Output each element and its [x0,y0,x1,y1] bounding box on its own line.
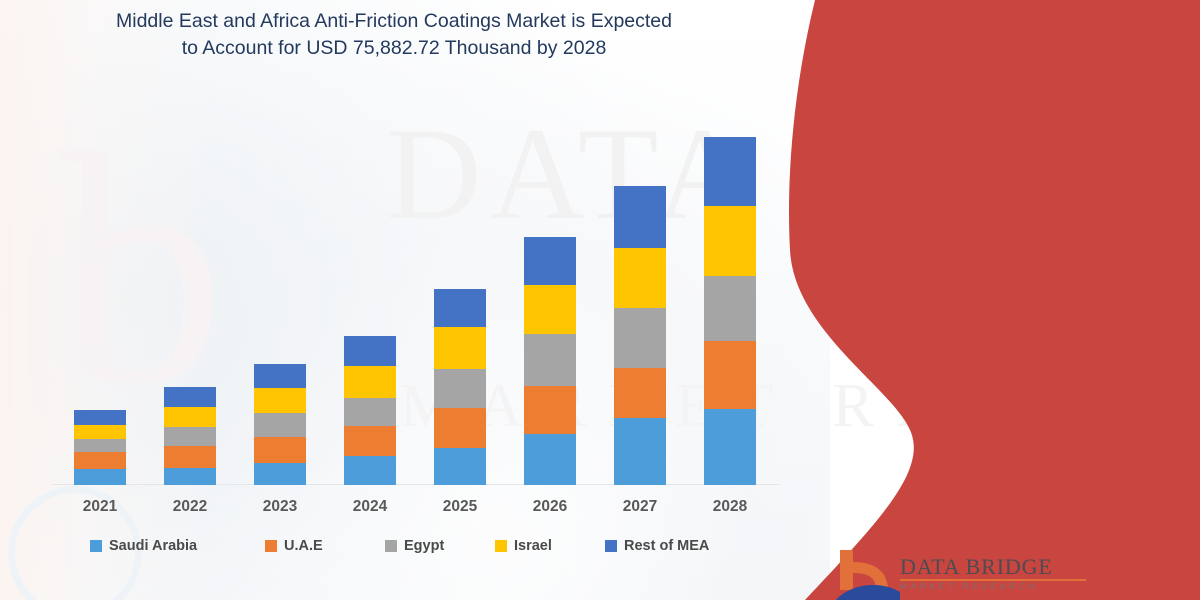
bar-segment-2025-saudi-arabia [434,448,486,485]
bar-segment-2024-saudi-arabia [344,456,396,485]
legend-swatch-icon [90,540,102,552]
x-axis-label-2021: 2021 [55,498,145,516]
legend-swatch-icon [495,540,507,552]
bar-segment-2028-egypt [704,276,756,341]
legend-swatch-icon [605,540,617,552]
x-axis-label-2023: 2023 [235,498,325,516]
brand-panel: Friction Coatings Market , By 2028 2028 … [760,0,1200,600]
bar-2028 [704,137,756,485]
bar-segment-2021-egypt [74,439,126,452]
bar-segment-2022-u-a-e [164,446,216,468]
x-axis-label-2022: 2022 [145,498,235,516]
bar-2025 [434,289,486,485]
legend-item-u-a-e: U.A.E [265,538,323,554]
bar-2027 [614,186,666,485]
bar-segment-2027-u-a-e [614,368,666,418]
bar-segment-2027-israel [614,248,666,308]
legend-swatch-icon [385,540,397,552]
bar-segment-2023-u-a-e [254,437,306,463]
bar-segment-2028-saudi-arabia [704,409,756,485]
chart-plot-area [55,100,775,485]
legend-item-rest-of-mea: Rest of MEA [605,538,709,554]
bar-segment-2025-u-a-e [434,408,486,448]
bar-segment-2026-israel [524,285,576,334]
bar-segment-2024-u-a-e [344,426,396,456]
bar-segment-2025-israel [434,327,486,369]
x-axis-label-2024: 2024 [325,498,415,516]
bar-segment-2027-rest-of-mea [614,186,666,248]
legend-label: Rest of MEA [624,538,709,554]
legend-label: Egypt [404,538,444,554]
x-axis-label-2025: 2025 [415,498,505,516]
bar-segment-2021-rest-of-mea [74,410,126,425]
bar-segment-2026-rest-of-mea [524,237,576,285]
bar-2022 [164,387,216,485]
stacked-bar-chart: 20212022202320242025202620272028 [0,0,830,600]
bar-segment-2023-saudi-arabia [254,463,306,485]
legend-item-egypt: Egypt [385,538,444,554]
bar-segment-2024-israel [344,366,396,398]
company-logo: DATA BRIDGE MARKET RESEARCH [836,548,1176,600]
bar-segment-2024-rest-of-mea [344,336,396,366]
bar-segment-2024-egypt [344,398,396,426]
bar-segment-2028-rest-of-mea [704,137,756,206]
bar-2024 [344,336,396,485]
bar-segment-2022-israel [164,407,216,427]
bar-segment-2026-egypt [524,334,576,386]
x-axis-labels: 20212022202320242025202620272028 [55,498,775,524]
bar-segment-2021-u-a-e [74,452,126,469]
logo-tagline: MARKET RESEARCH [900,581,1038,591]
legend-label: Israel [514,538,552,554]
bar-segment-2023-rest-of-mea [254,364,306,389]
bar-segment-2027-saudi-arabia [614,418,666,485]
bar-segment-2028-israel [704,206,756,276]
bar-segment-2026-saudi-arabia [524,434,576,485]
x-axis-label-2026: 2026 [505,498,595,516]
bar-segment-2025-rest-of-mea [434,289,486,327]
bar-segment-2023-israel [254,388,306,413]
legend-label: Saudi Arabia [109,538,197,554]
legend-swatch-icon [265,540,277,552]
bar-segment-2022-saudi-arabia [164,468,216,485]
legend-item-saudi-arabia: Saudi Arabia [90,538,197,554]
bar-segment-2022-egypt [164,427,216,446]
chart-legend: Saudi ArabiaU.A.EEgyptIsraelRest of MEA [60,538,780,564]
bar-segment-2026-u-a-e [524,386,576,434]
infographic-canvas: b DATA BRIDGE MARKET RESEARCH Middle Eas… [0,0,1200,600]
bar-segment-2022-rest-of-mea [164,387,216,407]
bar-segment-2025-egypt [434,369,486,408]
bar-segment-2028-u-a-e [704,341,756,409]
brand-panel-shape [760,0,1200,600]
bar-2026 [524,237,576,485]
bridge-logo-icon [836,548,900,600]
logo-wordmark: DATA BRIDGE [900,554,1053,580]
legend-label: U.A.E [284,538,323,554]
bar-segment-2027-egypt [614,308,666,368]
bar-segment-2021-israel [74,425,126,439]
legend-item-israel: Israel [495,538,552,554]
bar-segment-2021-saudi-arabia [74,469,126,485]
x-axis-label-2027: 2027 [595,498,685,516]
bar-segment-2023-egypt [254,413,306,437]
bar-2023 [254,364,306,485]
bar-2021 [74,410,126,485]
